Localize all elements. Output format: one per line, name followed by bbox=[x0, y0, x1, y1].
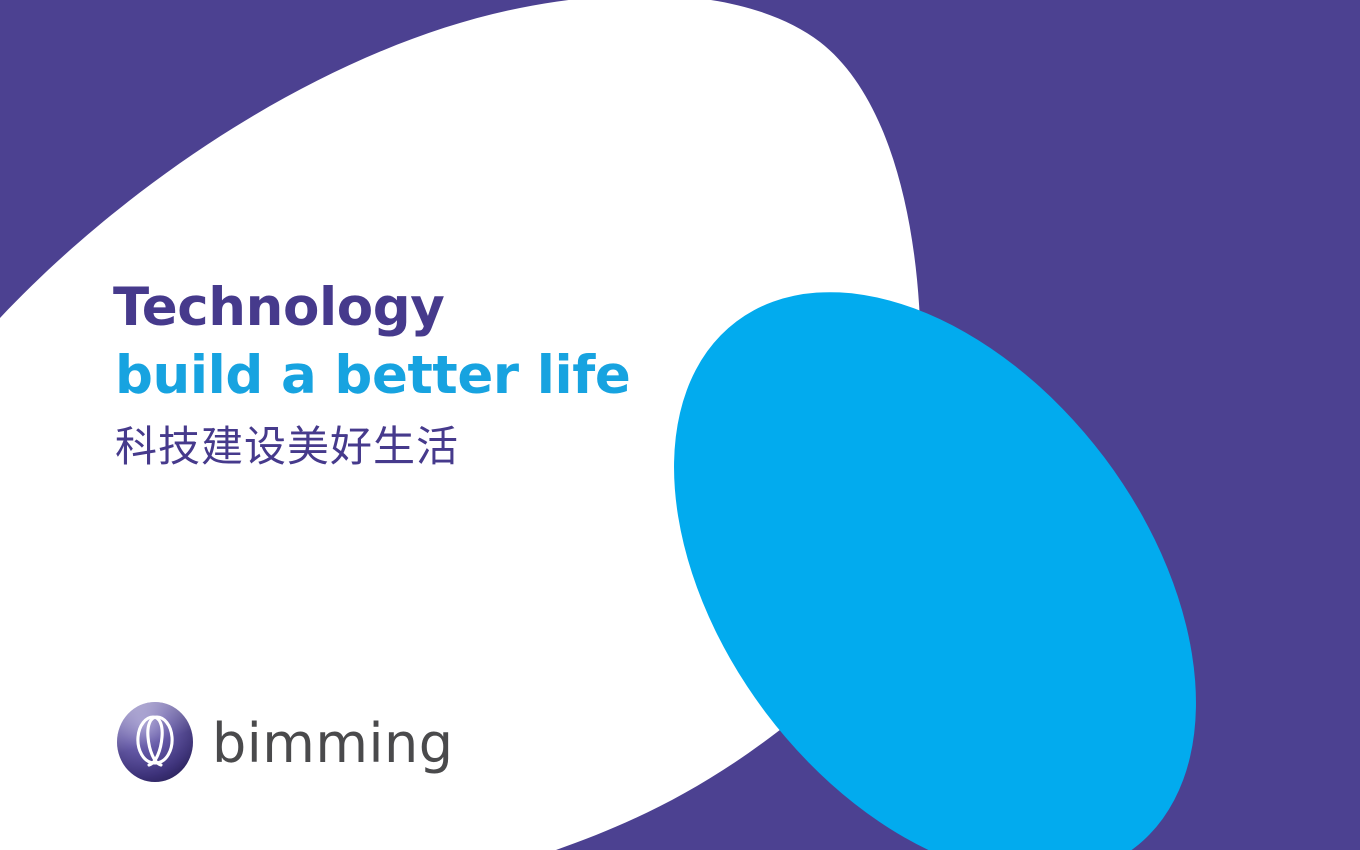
headline-subtitle-chinese: 科技建设美好生活 bbox=[115, 416, 733, 478]
bimming-wordmark: bimming bbox=[212, 717, 454, 771]
headline-block: Technology build a better life 科技建设美好生活 bbox=[113, 274, 733, 478]
headline-line-2: build a better life bbox=[115, 342, 733, 410]
headline-line-1: Technology bbox=[113, 274, 733, 342]
cover-slide: Technology build a better life 科技建设美好生活 … bbox=[0, 0, 1360, 850]
bimming-logo-sphere-icon bbox=[116, 701, 194, 783]
logo-lockup: bimming bbox=[116, 701, 454, 783]
